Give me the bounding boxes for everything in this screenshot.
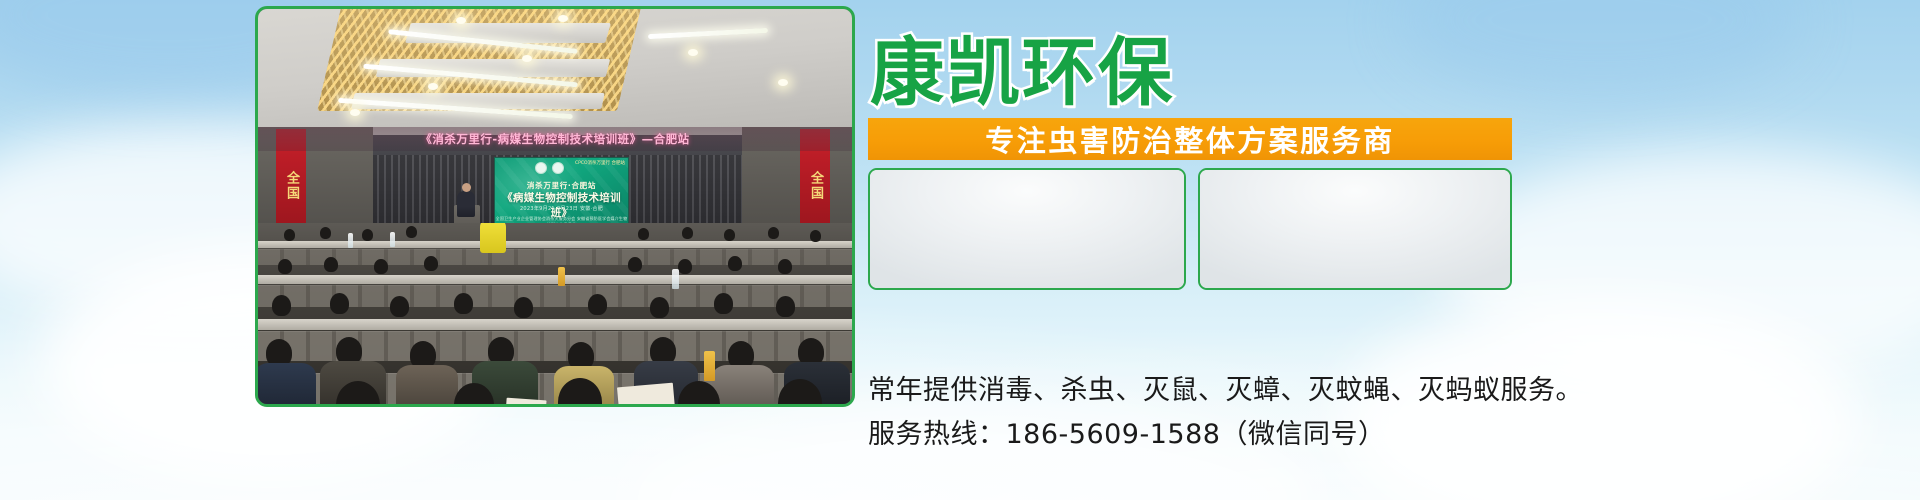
ceiling-panel [405,23,611,43]
conference-photo-inner: 全国 全国 《消杀万里行-病媒生物控制技术培训班》—合肥站 CPCO消杀万里行 … [258,9,852,404]
audience-head [514,297,533,318]
company-name-headline: 康凯环保 [870,36,1174,110]
staff-team-photo-1 [868,168,1186,290]
audience-head [390,296,409,317]
audience-head [324,257,338,272]
audience-body [258,363,316,404]
ceiling-downlight [522,55,532,62]
audience-head [682,227,693,239]
studio-backdrop [1200,170,1510,288]
drink-bottle [704,351,715,381]
promotional-banner: 全国 全国 《消杀万里行-病媒生物控制技术培训班》—合肥站 CPCO消杀万里行 … [0,0,1920,500]
audience-head [728,256,742,271]
audience-head [650,297,669,318]
conference-caption-text: 《消杀万里行-病媒生物控制技术培训班》—合肥站 [420,131,689,147]
audience-head [628,257,642,272]
chair-row [258,249,852,265]
ceiling-downlight [350,109,360,116]
audience-head [778,259,792,274]
audience-body [712,365,774,404]
audience-head [454,293,473,314]
audience-head [272,295,291,316]
audience-body [396,365,458,404]
safety-vest-person [480,223,506,253]
audience-head [768,227,779,239]
audience-head [776,296,795,317]
ceiling-downlight [778,79,788,86]
handout-paper [617,383,675,404]
audience-head [588,294,607,315]
audience-head [284,229,295,241]
audience-head [278,259,292,274]
audience-head [330,293,349,314]
studio-backdrop [870,170,1184,288]
ceiling-downlight [456,17,466,24]
conference-caption-band: 《消杀万里行-病媒生物控制技术培训班》—合肥站 [258,127,852,151]
audience-head [638,228,649,240]
speaker-person [457,191,475,217]
ceiling-downlight [558,15,568,22]
ceiling-downlight [428,83,438,90]
audience-head [678,259,692,274]
audience-head [406,226,417,238]
audience-head [374,259,388,274]
audience-head [810,230,821,242]
water-bottle [390,232,395,247]
conference-training-photo: 全国 全国 《消杀万里行-病媒生物控制技术培训班》—合肥站 CPCO消杀万里行 … [255,6,855,407]
tagline-bar: 专注虫害防治整体方案服务商 [868,118,1512,160]
water-bottle [348,233,353,248]
drink-bottle [558,267,565,286]
screen-line-3: 2023年9月21-9月23日 安徽·合肥 [495,205,628,212]
content-column: 康凯环保 专注虫害防治整体方案服务商 [862,0,1562,500]
staff-team-photo-2 [1198,168,1512,290]
audience-head [724,229,735,241]
conference-table [258,275,852,284]
tagline-text: 专注虫害防治整体方案服务商 [985,118,1395,160]
audience-area [258,223,852,404]
services-description: 常年提供消毒、杀虫、灭鼠、灭蟑、灭蚊蝇、灭蚂蚁服务。 [868,368,1583,407]
water-bottle [672,269,679,289]
hotline-text: 服务热线：186-5609-1588（微信同号） [868,412,1385,451]
screen-logos [535,162,564,174]
ceiling-downlight [688,49,698,56]
audience-head [424,256,438,271]
conference-table [258,319,852,330]
audience-head [320,227,331,239]
audience-head [714,293,733,314]
screen-corner-note: CPCO消杀万里行 合肥站 [575,161,625,168]
audience-head [362,229,373,241]
